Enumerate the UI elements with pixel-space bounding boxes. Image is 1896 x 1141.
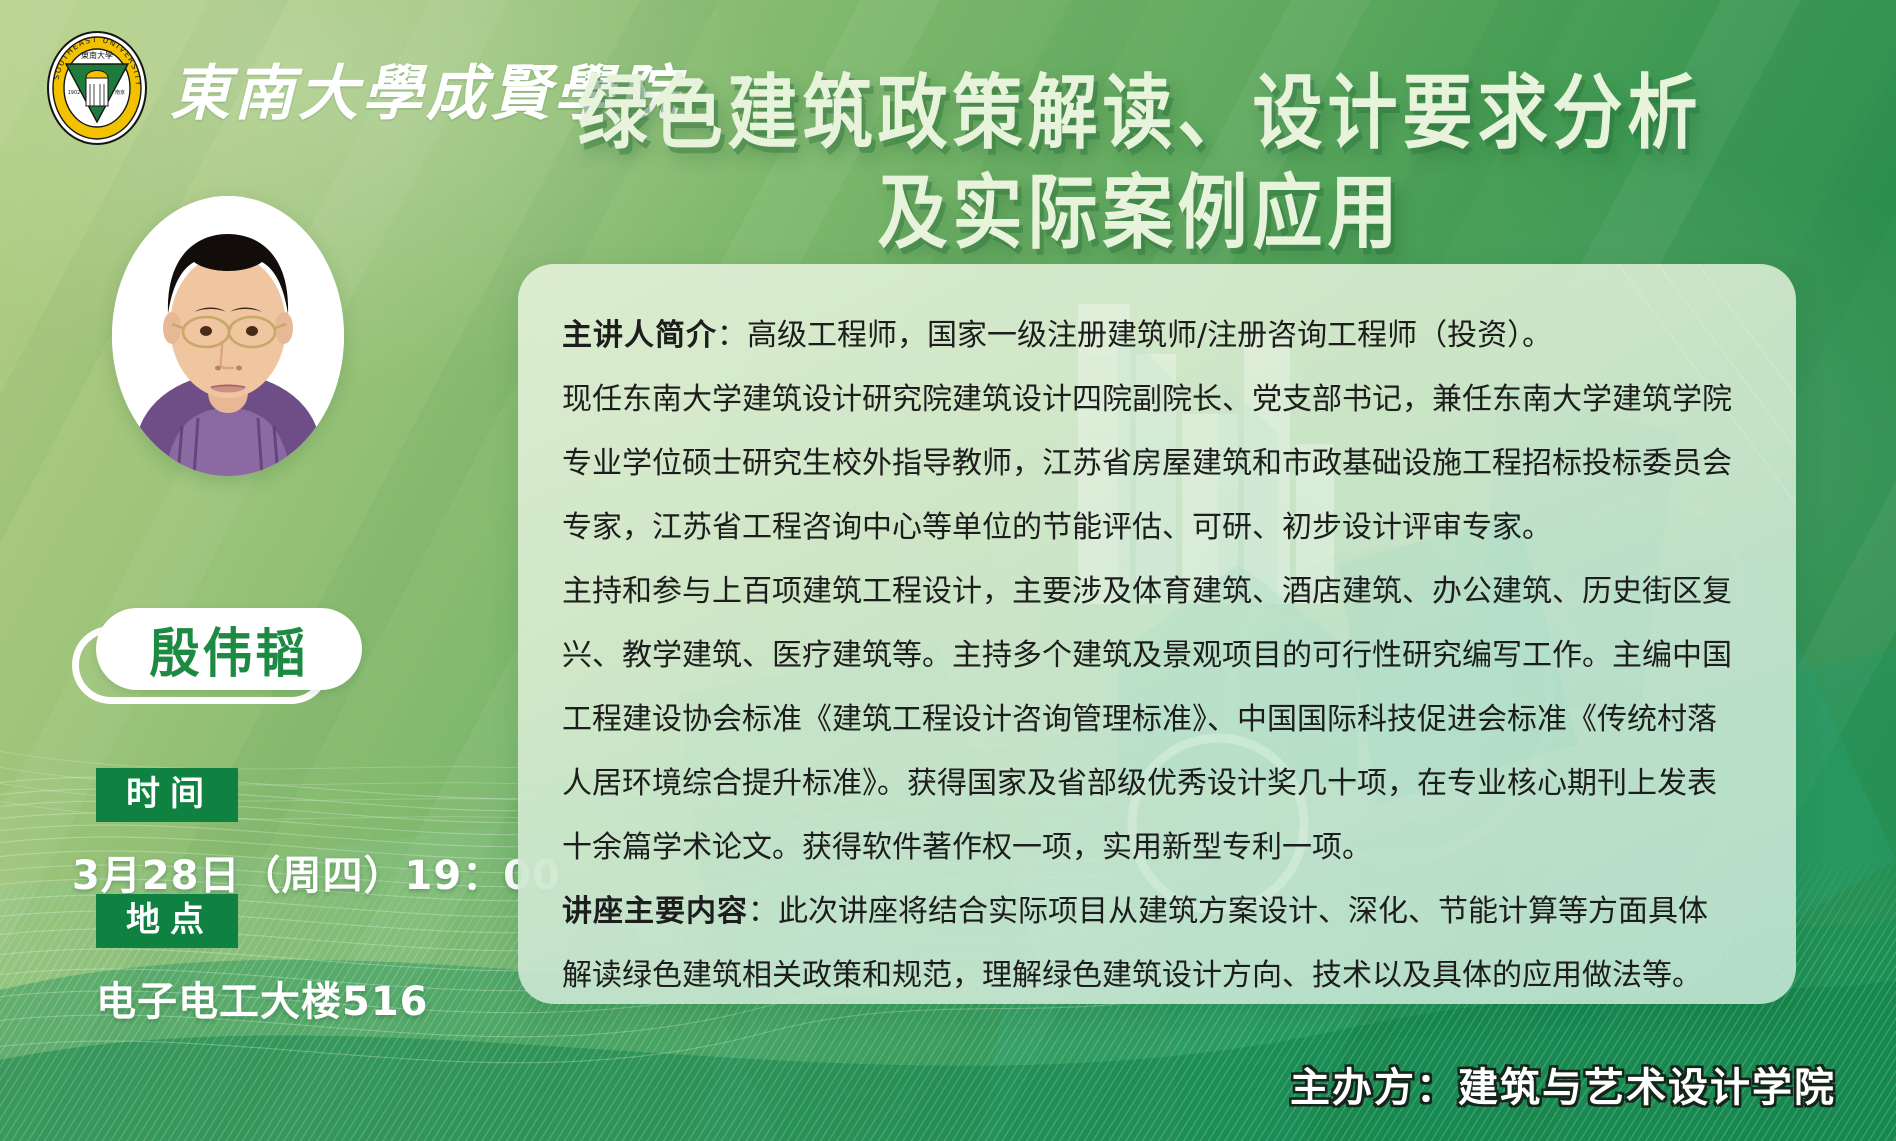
content-line-text: 解读绿色建筑相关政策和规范，理解绿色建筑设计方向、技术以及具体的应用做法等。 bbox=[562, 958, 1702, 993]
organizer-text: 主办方：建筑与艺术设计学院 bbox=[1290, 1055, 1836, 1113]
title-line-1: 绿色建筑政策解读、设计要求分析 bbox=[430, 68, 1850, 158]
content-text: 主讲人简介：高级工程师，国家一级注册建筑师/注册咨询工程师（投资）。 现任东南大… bbox=[518, 264, 1796, 1004]
content-line: 主讲人简介：高级工程师，国家一级注册建筑师/注册咨询工程师（投资）。 bbox=[562, 304, 1752, 368]
title-line-2: 及实际案例应用 bbox=[430, 168, 1850, 258]
content-line-text: 现任东南大学建筑设计研究院建筑设计四院副院长、党支部书记，兼任东南大学建筑学院 bbox=[562, 382, 1732, 417]
content-line-text: 专家，江苏省工程咨询中心等单位的节能评估、可研、初步设计评审专家。 bbox=[562, 510, 1552, 545]
content-line: 专家，江苏省工程咨询中心等单位的节能评估、可研、初步设计评审专家。 bbox=[562, 496, 1752, 560]
place-value: 电子电工大楼516 bbox=[96, 969, 429, 1027]
content-line-text: ：此次讲座将结合实际项目从建筑方案设计、深化、节能计算等方面具体 bbox=[748, 894, 1708, 929]
content-line: 十余篇学术论文。获得软件著作权一项，实用新型专利一项。 bbox=[562, 816, 1752, 880]
content-line-text: 主持和参与上百项建筑工程设计，主要涉及体育建筑、酒店建筑、办公建筑、历史街区复 bbox=[562, 574, 1732, 609]
portrait-illustration bbox=[112, 196, 344, 476]
content-line-text: 兴、教学建筑、医疗建筑等。主持多个建筑及景观项目的可行性研究编写工作。主编中国 bbox=[562, 638, 1732, 673]
place-label: 地点 bbox=[96, 894, 238, 948]
content-line: 解读绿色建筑相关政策和规范，理解绿色建筑设计方向、技术以及具体的应用做法等。 bbox=[562, 944, 1752, 1004]
svg-text:東南大學: 東南大學 bbox=[81, 50, 113, 60]
name-badge-pill: 殷伟韬 bbox=[96, 608, 362, 690]
content-line-bold: 讲座主要内容 bbox=[562, 894, 748, 929]
content-line: 人居环境综合提升标准》。获得国家及省部级优秀设计奖几十项，在专业核心期刊上发表 bbox=[562, 752, 1752, 816]
content-line-text: 十余篇学术论文。获得软件著作权一项，实用新型专利一项。 bbox=[562, 830, 1372, 865]
time-label: 时间 bbox=[96, 768, 238, 822]
svg-text:南京: 南京 bbox=[115, 89, 125, 96]
content-line: 兴、教学建筑、医疗建筑等。主持多个建筑及景观项目的可行性研究编写工作。主编中国 bbox=[562, 624, 1752, 688]
poster-root: 東南大學 1902 南京 SOUTHEAST UNIVERSITY 東南大學成賢… bbox=[0, 0, 1896, 1141]
content-line: 现任东南大学建筑设计研究院建筑设计四院副院长、党支部书记，兼任东南大学建筑学院 bbox=[562, 368, 1752, 432]
speaker-name-badge: 殷伟韬 bbox=[96, 608, 362, 704]
poster-title: 绿色建筑政策解读、设计要求分析 及实际案例应用 bbox=[430, 68, 1850, 246]
svg-text:1902: 1902 bbox=[68, 90, 81, 96]
content-line: 主持和参与上百项建筑工程设计，主要涉及体育建筑、酒店建筑、办公建筑、历史街区复 bbox=[562, 560, 1752, 624]
content-line-text: 人居环境综合提升标准》。获得国家及省部级优秀设计奖几十项，在专业核心期刊上发表 bbox=[562, 766, 1717, 801]
speaker-portrait-photo bbox=[112, 196, 344, 476]
time-value: 3月28日（周四）19：00 bbox=[72, 843, 561, 901]
content-line-text: 工程建设协会标准《建筑工程设计咨询管理标准》、中国国际科技促进会标准《传统村落 bbox=[562, 702, 1717, 737]
content-line-text: 专业学位硕士研究生校外指导教师，江苏省房屋建筑和市政基础设施工程招标投标委员会 bbox=[562, 446, 1732, 481]
content-line-bold: 主讲人简介 bbox=[562, 318, 717, 353]
speaker-name: 殷伟韬 bbox=[150, 611, 309, 687]
content-panel: 主讲人简介：高级工程师，国家一级注册建筑师/注册咨询工程师（投资）。 现任东南大… bbox=[518, 264, 1796, 1004]
southeast-university-seal-icon: 東南大學 1902 南京 SOUTHEAST UNIVERSITY bbox=[46, 30, 148, 146]
content-line: 讲座主要内容：此次讲座将结合实际项目从建筑方案设计、深化、节能计算等方面具体 bbox=[562, 880, 1752, 944]
content-line: 工程建设协会标准《建筑工程设计咨询管理标准》、中国国际科技促进会标准《传统村落 bbox=[562, 688, 1752, 752]
content-line: 专业学位硕士研究生校外指导教师，江苏省房屋建筑和市政基础设施工程招标投标委员会 bbox=[562, 432, 1752, 496]
content-line-text: ：高级工程师，国家一级注册建筑师/注册咨询工程师（投资）。 bbox=[717, 318, 1552, 353]
